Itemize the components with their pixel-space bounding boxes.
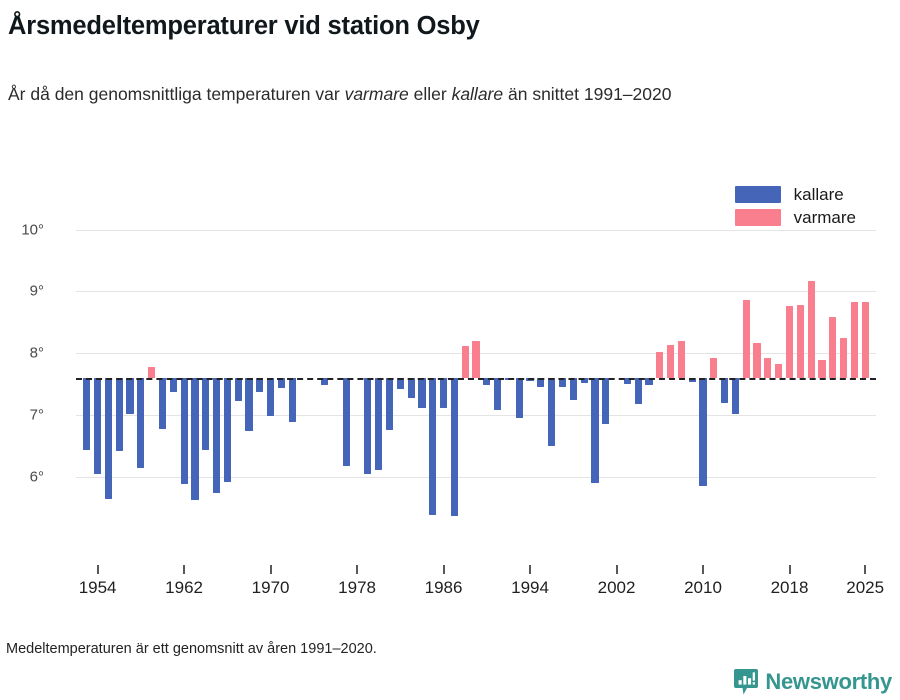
bar-1960[interactable] — [159, 378, 166, 429]
bar-1955[interactable] — [105, 378, 112, 499]
bar-1964[interactable] — [202, 378, 209, 450]
bar-1957[interactable] — [126, 378, 133, 414]
bar-2006[interactable] — [656, 352, 663, 378]
bar-1959[interactable] — [148, 367, 155, 378]
x-tick-label-1954: 1954 — [58, 578, 138, 598]
x-tick-mark-1994 — [529, 565, 531, 574]
bar-1967[interactable] — [235, 378, 242, 401]
bar-2008[interactable] — [678, 341, 685, 378]
bar-1954[interactable] — [94, 378, 101, 474]
x-tick-label-2010: 2010 — [663, 578, 743, 598]
bar-2019[interactable] — [797, 305, 804, 378]
bar-2010[interactable] — [699, 378, 706, 486]
bar-1996[interactable] — [548, 378, 555, 447]
bar-2014[interactable] — [743, 300, 750, 378]
bar-2013[interactable] — [732, 378, 739, 414]
legend-item-kallare[interactable]: kallare — [735, 186, 856, 203]
x-tick-label-1962: 1962 — [144, 578, 224, 598]
bar-2007[interactable] — [667, 345, 674, 378]
chart-footnote: Medeltemperaturen är ett genomsnitt av å… — [6, 641, 377, 657]
x-tick-label-2002: 2002 — [577, 578, 657, 598]
x-tick-mark-2018 — [789, 565, 791, 574]
x-axis: 1954196219701978198619942002201020182025 — [76, 520, 876, 590]
bar-1981[interactable] — [386, 378, 393, 431]
legend-swatch-kallare — [735, 186, 781, 203]
x-tick-label-1978: 1978 — [317, 578, 397, 598]
bar-1962[interactable] — [181, 378, 188, 484]
logo-wordmark: Newsworthy — [765, 671, 892, 693]
chart-legend: kallarevarmare — [735, 186, 856, 226]
legend-label-varmare: varmare — [794, 209, 856, 226]
bar-1970[interactable] — [267, 378, 274, 416]
bar-1963[interactable] — [191, 378, 198, 500]
x-tick-mark-2010 — [702, 565, 704, 574]
bar-2025[interactable] — [862, 302, 869, 378]
bar-1968[interactable] — [245, 378, 252, 431]
bar-series — [76, 205, 876, 520]
bar-1980[interactable] — [375, 378, 382, 470]
x-tick-label-2025: 2025 — [825, 578, 900, 598]
bar-2012[interactable] — [721, 378, 728, 403]
bar-2022[interactable] — [829, 317, 836, 378]
baseline-average — [76, 378, 876, 380]
x-tick-label-1986: 1986 — [404, 578, 484, 598]
bar-2000[interactable] — [591, 378, 598, 483]
bar-1965[interactable] — [213, 378, 220, 493]
x-tick-mark-1970 — [270, 565, 272, 574]
x-tick-label-1970: 1970 — [231, 578, 311, 598]
bar-1961[interactable] — [170, 378, 177, 392]
bar-1958[interactable] — [137, 378, 144, 468]
bar-2020[interactable] — [808, 281, 815, 378]
x-tick-label-1994: 1994 — [490, 578, 570, 598]
y-tick-label-7: 7° — [0, 407, 44, 424]
x-tick-label-2018: 2018 — [750, 578, 830, 598]
bar-1972[interactable] — [289, 378, 296, 422]
bar-1998[interactable] — [570, 378, 577, 400]
chart-page: Årsmedeltemperaturer vid station Osby År… — [0, 0, 900, 700]
x-tick-mark-1978 — [356, 565, 358, 574]
bar-2021[interactable] — [818, 360, 825, 378]
y-tick-label-6: 6° — [0, 468, 44, 485]
bar-1969[interactable] — [256, 378, 263, 392]
bar-1979[interactable] — [364, 378, 371, 474]
legend-item-varmare[interactable]: varmare — [735, 209, 856, 226]
x-tick-mark-2025 — [864, 565, 866, 574]
bar-2004[interactable] — [635, 378, 642, 405]
bar-2017[interactable] — [775, 364, 782, 378]
bar-1956[interactable] — [116, 378, 123, 451]
x-tick-mark-1954 — [97, 565, 99, 574]
bar-1986[interactable] — [440, 378, 447, 408]
bar-1953[interactable] — [83, 378, 90, 450]
bar-1983[interactable] — [408, 378, 415, 398]
plot-area: 6°7°8°9°10° — [76, 205, 876, 520]
newsworthy-logo: Newsworthy — [734, 669, 892, 695]
bar-2018[interactable] — [786, 306, 793, 378]
bar-2015[interactable] — [753, 343, 760, 378]
y-tick-label-9: 9° — [0, 283, 44, 300]
bar-1988[interactable] — [462, 346, 469, 378]
bar-2001[interactable] — [602, 378, 609, 424]
bar-1989[interactable] — [472, 341, 479, 378]
legend-swatch-varmare — [735, 209, 781, 226]
legend-label-kallare: kallare — [794, 186, 844, 203]
bar-2024[interactable] — [851, 302, 858, 378]
bar-1966[interactable] — [224, 378, 231, 482]
bar-1977[interactable] — [343, 378, 350, 466]
bar-2016[interactable] — [764, 358, 771, 378]
bar-1985[interactable] — [429, 378, 436, 515]
x-tick-mark-1986 — [443, 565, 445, 574]
bar-1984[interactable] — [418, 378, 425, 408]
x-tick-mark-1962 — [183, 565, 185, 574]
y-tick-label-10: 10° — [0, 221, 44, 238]
y-tick-label-8: 8° — [0, 345, 44, 362]
bar-1993[interactable] — [516, 378, 523, 418]
bar-chart-bubble-icon — [734, 669, 758, 695]
x-tick-mark-2002 — [616, 565, 618, 574]
bar-1991[interactable] — [494, 378, 501, 410]
bar-1987[interactable] — [451, 378, 458, 516]
bar-2023[interactable] — [840, 338, 847, 378]
bar-2011[interactable] — [710, 358, 717, 378]
